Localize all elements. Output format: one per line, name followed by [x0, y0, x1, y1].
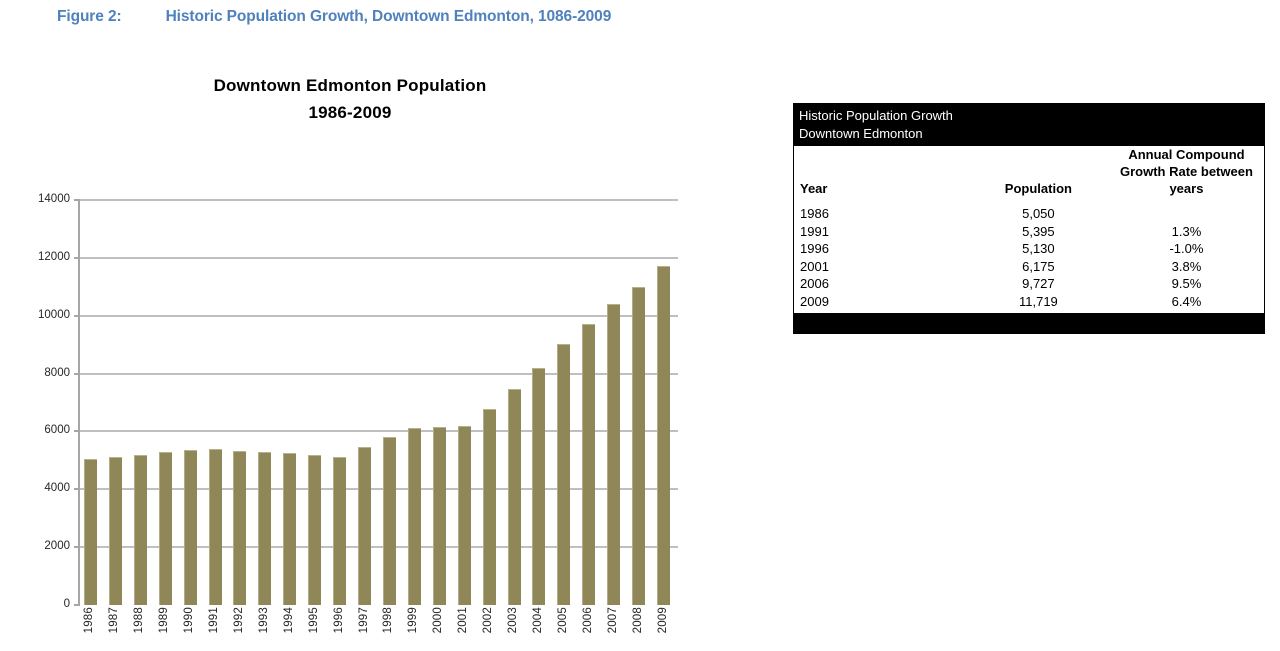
bar-1986 [84, 459, 97, 605]
table-row: 19965,130-1.0% [794, 240, 1264, 258]
y-axis-label-0: 0 [10, 599, 70, 610]
cell-growth-rate: 1.3% [1109, 223, 1264, 241]
y-axis-label-2000: 2000 [10, 541, 70, 552]
x-axis-label-2001: 2001 [457, 607, 471, 633]
population-bar-chart: Downtown Edmonton Population 1986-2009 0… [0, 60, 700, 591]
x-axis-label-1987: 1987 [108, 607, 122, 633]
bar-1988 [134, 455, 147, 605]
growth-rate-header-line-2: Growth Rate between [1120, 164, 1253, 179]
cell-population: 9,727 [968, 275, 1109, 293]
x-axis-label-2007: 2007 [607, 607, 621, 633]
historic-population-growth-table: Historic Population Growth Downtown Edmo… [793, 103, 1265, 334]
bar-2009 [657, 266, 670, 605]
x-axis-label-2003: 2003 [507, 607, 521, 633]
x-axis-label-1998: 1998 [382, 607, 396, 633]
cell-year: 1986 [794, 198, 968, 223]
x-axis-label-1989: 1989 [158, 607, 172, 633]
bar-1997 [358, 447, 371, 605]
figure-number-label: Figure 2: [57, 8, 122, 25]
bar-2000 [433, 427, 446, 605]
table-row: 19915,3951.3% [794, 223, 1264, 241]
table-header-row: Year Population Annual Compound Growth R… [794, 146, 1264, 198]
cell-population: 11,719 [968, 293, 1109, 314]
cell-year: 2006 [794, 275, 968, 293]
chart-title-line-2: 1986-2009 [0, 99, 700, 126]
x-axis-label-2004: 2004 [532, 607, 546, 633]
x-axis-label-1992: 1992 [233, 607, 247, 633]
growth-rate-header-line-3: years [1169, 181, 1203, 196]
cell-growth-rate: 6.4% [1109, 293, 1264, 314]
bar-2004 [532, 368, 545, 605]
bar-1992 [233, 451, 246, 605]
cell-year: 2009 [794, 293, 968, 314]
table-footer-bar [794, 313, 1264, 333]
cell-population: 6,175 [968, 258, 1109, 276]
x-axis-label-1994: 1994 [283, 607, 297, 633]
bar-1991 [209, 449, 222, 605]
column-header-growth-rate: Annual Compound Growth Rate between year… [1109, 146, 1264, 198]
y-axis-label-12000: 12000 [10, 252, 70, 263]
y-axis-label-14000: 14000 [10, 194, 70, 205]
bar-2007 [607, 304, 620, 605]
x-axis-label-1986: 1986 [83, 607, 97, 633]
table-row: 200911,7196.4% [794, 293, 1264, 314]
x-axis-label-1991: 1991 [208, 607, 222, 633]
x-axis-label-2005: 2005 [557, 607, 571, 633]
cell-growth-rate: 9.5% [1109, 275, 1264, 293]
bar-2002 [483, 409, 496, 605]
bar-1995 [308, 455, 321, 605]
growth-rate-header-line-1: Annual Compound [1128, 147, 1244, 162]
table-banner-line-2: Downtown Edmonton [799, 125, 1259, 143]
bar-1999 [408, 428, 421, 605]
bar-2006 [582, 324, 595, 605]
x-axis-label-1990: 1990 [183, 607, 197, 633]
bar-1996 [333, 457, 346, 605]
bar-1987 [109, 457, 122, 605]
bar-2003 [508, 389, 521, 605]
y-axis-label-10000: 10000 [10, 310, 70, 321]
table-head: Year Population Annual Compound Growth R… [794, 146, 1264, 198]
cell-population: 5,050 [968, 198, 1109, 223]
bar-1998 [383, 437, 396, 605]
x-axis-label-1999: 1999 [407, 607, 421, 633]
x-axis-label-1997: 1997 [358, 607, 372, 633]
x-axis-label-1993: 1993 [258, 607, 272, 633]
column-header-year: Year [794, 146, 968, 198]
bar-2008 [632, 287, 645, 605]
cell-growth-rate: 3.8% [1109, 258, 1264, 276]
chart-title-line-1: Downtown Edmonton Population [214, 76, 487, 95]
x-axis-label-2009: 2009 [657, 607, 671, 633]
cell-year: 2001 [794, 258, 968, 276]
table-banner: Historic Population Growth Downtown Edmo… [794, 104, 1264, 146]
x-axis-label-1995: 1995 [308, 607, 322, 633]
table-banner-line-1: Historic Population Growth [799, 107, 1259, 125]
table-row: 19865,050 [794, 198, 1264, 223]
x-axis-label-2006: 2006 [582, 607, 596, 633]
x-axis-label-2008: 2008 [632, 607, 646, 633]
chart-bars-layer [78, 200, 676, 605]
figure-caption-text: Historic Population Growth, Downtown Edm… [166, 8, 612, 25]
cell-year: 1991 [794, 223, 968, 241]
bar-2005 [557, 344, 570, 605]
population-table: Year Population Annual Compound Growth R… [794, 146, 1264, 313]
cell-growth-rate [1109, 198, 1264, 223]
table-row: 20016,1753.8% [794, 258, 1264, 276]
bar-2001 [458, 426, 471, 605]
figure-caption: Figure 2:Historic Population Growth, Dow… [57, 8, 611, 26]
x-axis-label-2002: 2002 [482, 607, 496, 633]
column-header-population: Population [968, 146, 1109, 198]
cell-population: 5,395 [968, 223, 1109, 241]
y-axis-label-6000: 6000 [10, 425, 70, 436]
chart-title: Downtown Edmonton Population 1986-2009 [0, 72, 700, 126]
x-axis-label-1996: 1996 [333, 607, 347, 633]
bar-1989 [159, 452, 172, 605]
y-axis-label-8000: 8000 [10, 368, 70, 379]
x-axis-tick-labels: 1986198719881989199019911992199319941995… [78, 607, 676, 651]
bar-1993 [258, 452, 271, 605]
bar-1990 [184, 450, 197, 605]
cell-year: 1996 [794, 240, 968, 258]
y-axis-tick-labels: 02000400060008000100001200014000 [8, 200, 70, 605]
bar-1994 [283, 453, 296, 605]
table-row: 20069,7279.5% [794, 275, 1264, 293]
cell-population: 5,130 [968, 240, 1109, 258]
x-axis-label-2000: 2000 [432, 607, 446, 633]
y-axis-label-4000: 4000 [10, 483, 70, 494]
cell-growth-rate: -1.0% [1109, 240, 1264, 258]
x-axis-label-1988: 1988 [133, 607, 147, 633]
table-body: 19865,05019915,3951.3%19965,130-1.0%2001… [794, 198, 1264, 313]
